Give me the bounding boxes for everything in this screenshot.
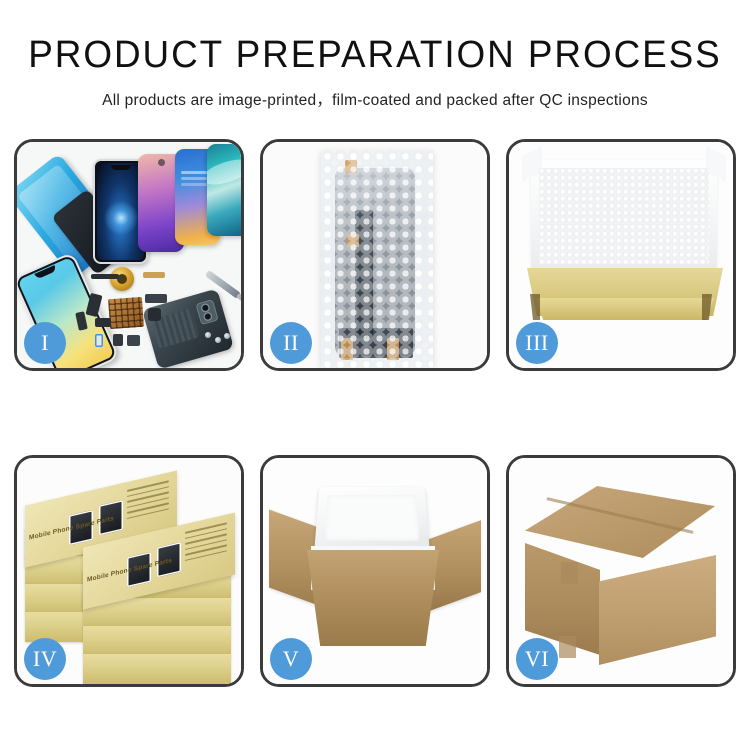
step-badge-4: IV xyxy=(24,638,66,680)
process-step-card-1[interactable]: I xyxy=(14,139,244,371)
process-step-grid: I II xyxy=(14,139,736,687)
carton-top-face-icon xyxy=(525,486,715,558)
yellow-box-front-icon xyxy=(536,298,714,320)
foam-sheet-icon xyxy=(539,168,709,264)
small-connector-icon xyxy=(95,318,111,327)
sim-tray-icon xyxy=(95,334,103,347)
carton-right-face-icon xyxy=(599,555,716,665)
box-corner-right-icon xyxy=(702,294,712,320)
process-step-card-4[interactable]: Mobile Phone Spare Parts Mobile Phone Sp… xyxy=(14,455,244,687)
step-badge-3: III xyxy=(516,322,558,364)
flex-cable-icon xyxy=(91,274,119,279)
process-step-card-2[interactable]: II xyxy=(260,139,490,371)
page-title: PRODUCT PREPARATION PROCESS xyxy=(11,36,739,74)
carton-tape-icon xyxy=(559,636,576,658)
carton-body-icon xyxy=(307,550,439,646)
foam-lid-icon xyxy=(314,487,429,550)
process-step-card-3[interactable]: III xyxy=(506,139,736,371)
step-badge-6: VI xyxy=(516,638,558,680)
vibration-motor-icon xyxy=(110,267,134,291)
step-badge-2: II xyxy=(270,322,312,364)
process-step-card-5[interactable]: V xyxy=(260,455,490,687)
screws-icon xyxy=(205,332,231,346)
bubble-texture-overlay xyxy=(321,150,433,368)
stacked-box xyxy=(83,654,231,684)
logic-board-chip-icon xyxy=(108,297,144,329)
step-badge-1: I xyxy=(24,322,66,364)
step-badge-5: V xyxy=(270,638,312,680)
box-spec-lines xyxy=(185,522,227,566)
process-step-card-6[interactable]: VI xyxy=(506,455,736,687)
connector-strip-icon xyxy=(143,272,165,278)
page-header: PRODUCT PREPARATION PROCESS All products… xyxy=(0,0,750,110)
ic-chip-icon xyxy=(113,334,123,346)
box-spec-lines xyxy=(127,480,169,524)
speaker-icon xyxy=(148,308,161,321)
stacked-box xyxy=(83,626,231,656)
page-subtitle: All products are image-printed，film-coat… xyxy=(0,88,750,110)
camera-module-icon xyxy=(145,294,167,303)
phone-teal-icon xyxy=(207,144,241,236)
carton-tape-icon xyxy=(561,562,578,584)
shield-can-icon xyxy=(127,335,140,346)
bubble-wrap-bag-icon xyxy=(321,150,433,368)
box-corner-left-icon xyxy=(530,294,540,320)
